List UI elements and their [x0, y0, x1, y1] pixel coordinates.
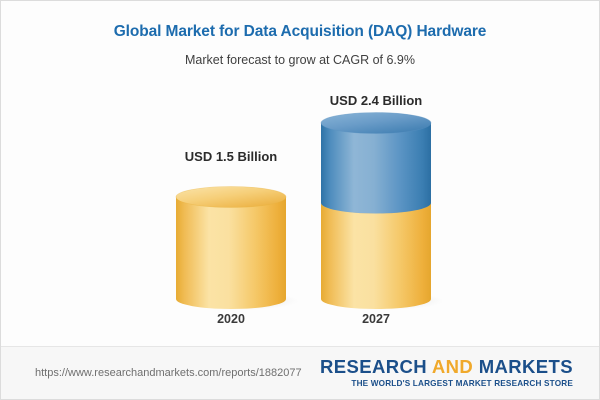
bar-group-2020[interactable]: USD 1.5 Billion	[161, 87, 301, 348]
infographic-chart-card: Global Market for Data Acquisition (DAQ)…	[0, 0, 600, 400]
chart-header: Global Market for Data Acquisition (DAQ)…	[1, 1, 599, 87]
report-url-link[interactable]: https://www.researchandmarkets.com/repor…	[35, 367, 302, 379]
bar-category-label-2020: 2020	[217, 312, 245, 326]
chart-plot-area: USD 1.5 Billion	[1, 87, 600, 348]
cylinder-2027	[306, 87, 446, 348]
bar-category-label-2027: 2027	[362, 312, 390, 326]
chart-title: Global Market for Data Acquisition (DAQ)…	[1, 23, 599, 41]
logo-word-research: RESEARCH	[320, 356, 427, 377]
logo-word-markets: MARKETS	[479, 356, 573, 377]
bar-group-2027[interactable]: USD 2.4 Billion	[306, 87, 446, 348]
chart-footer: https://www.researchandmarkets.com/repor…	[1, 346, 599, 399]
cylinder-2020	[161, 87, 301, 348]
research-and-markets-logo[interactable]: RESEARCH AND MARKETS THE WORLD'S LARGEST…	[320, 358, 573, 388]
logo-tagline: THE WORLD'S LARGEST MARKET RESEARCH STOR…	[320, 380, 573, 388]
logo-word-and: AND	[432, 356, 473, 377]
logo-wordmark: RESEARCH AND MARKETS	[320, 358, 573, 377]
chart-subtitle: Market forecast to grow at CAGR of 6.9%	[1, 53, 599, 67]
